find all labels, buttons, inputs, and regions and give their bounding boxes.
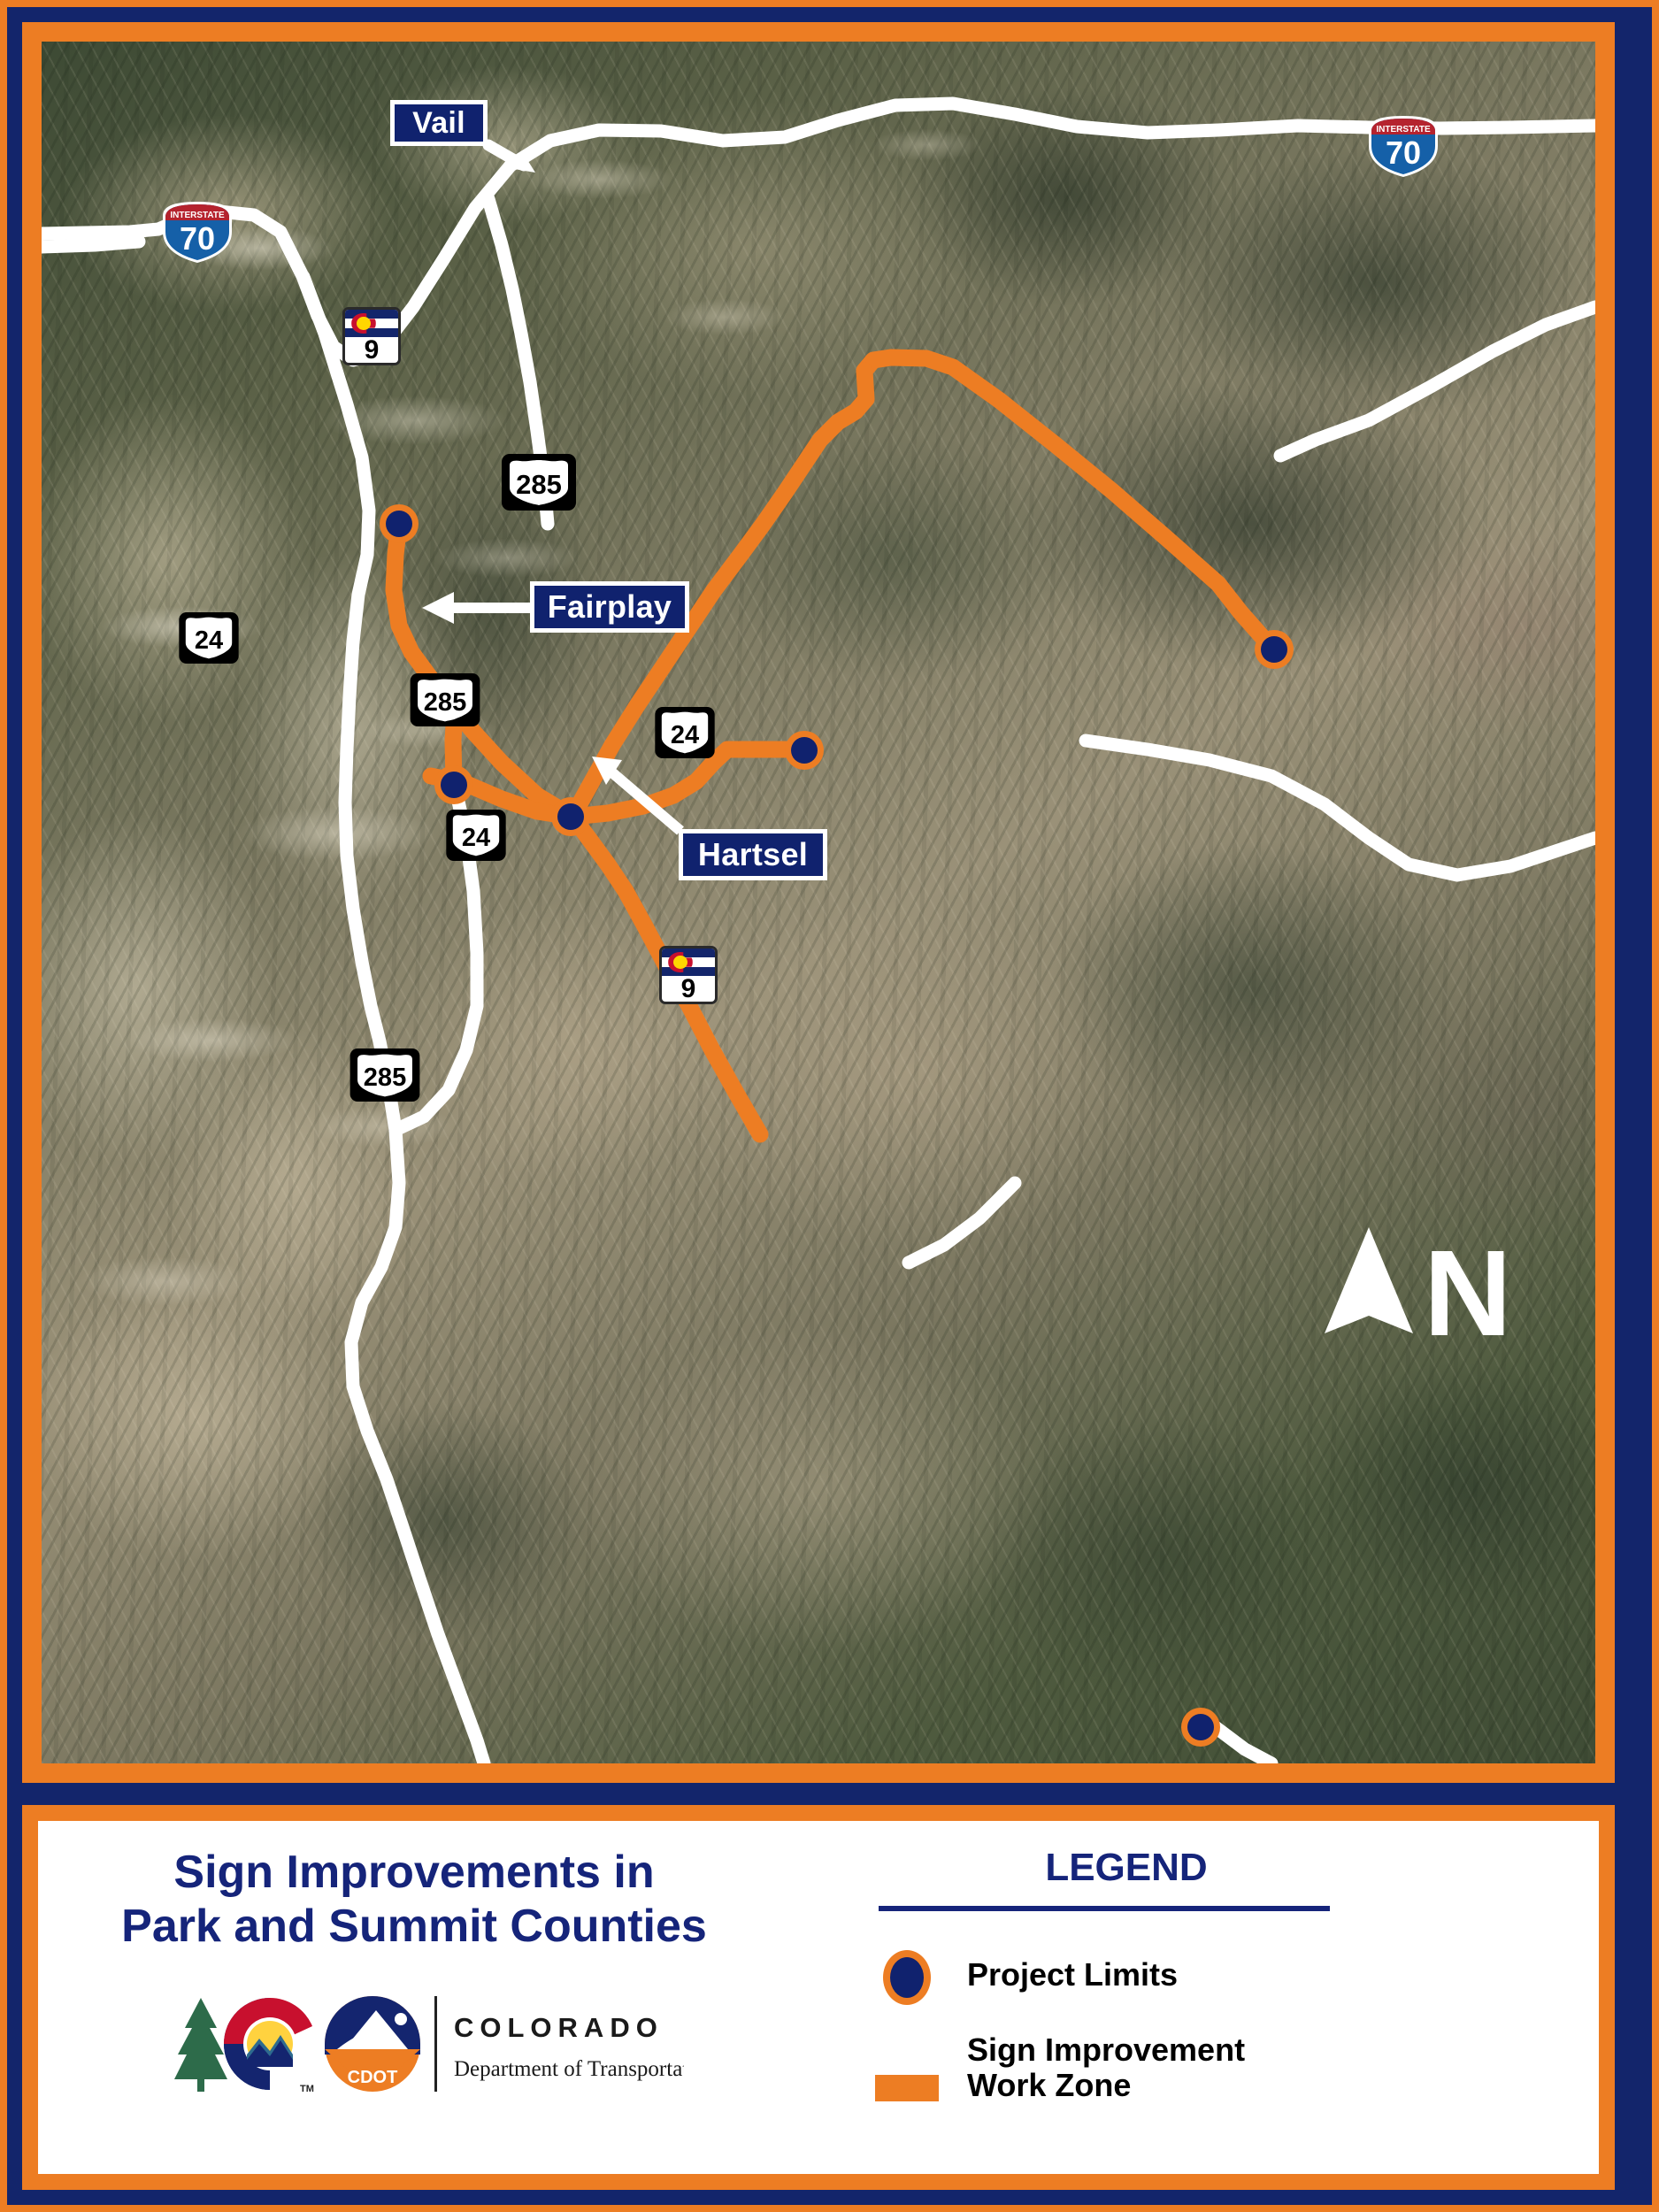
colorado-flag-icon (662, 949, 715, 976)
shield-number: 285 (424, 688, 466, 717)
interstate-banner: INTERSTATE (1376, 125, 1431, 134)
shield-us-24-east[interactable]: 24 (655, 707, 715, 763)
poster-root: N Vail Fairplay Hartsel INTERSTATE (0, 0, 1659, 2212)
shield-number: 70 (180, 220, 215, 257)
workzone-us285-ne (864, 357, 1267, 642)
project-limit-dot (1181, 1708, 1220, 1747)
legend-item-project-limits: Project Limits (834, 1947, 1542, 2008)
road-us24-east (1086, 741, 1595, 875)
shield-number: 9 (662, 976, 715, 1002)
project-limit-dot (551, 797, 590, 836)
interstate-banner: INTERSTATE (170, 211, 225, 220)
shield-number: 9 (345, 337, 398, 363)
legend-label-line-1: Sign Improvement (967, 2032, 1245, 2068)
project-limit-dot (434, 765, 473, 804)
legend-label: Sign Improvement Work Zone (967, 2032, 1245, 2104)
legend: LEGEND Project Limits Sign Improvement W… (834, 1840, 1542, 2159)
pine-tree-icon (174, 1998, 227, 2092)
info-panel: Sign Improvements in Park and Summit Cou… (38, 1821, 1599, 2174)
legend-item-work-zone: Sign Improvement Work Zone (834, 2031, 1542, 2128)
map-vector-layer: N (42, 42, 1595, 1763)
legend-heading: LEGEND (941, 1846, 1312, 1890)
highway-network (42, 104, 1595, 1763)
agency-name: COLORADO (454, 2012, 664, 2043)
north-arrow: N (1325, 1225, 1512, 1362)
legend-divider (879, 1906, 1330, 1911)
shield-number: 24 (195, 626, 223, 655)
road-us285-south (351, 1130, 484, 1763)
project-limit-markers[interactable] (380, 504, 1294, 1747)
shield-us-24-mid[interactable]: 24 (446, 810, 506, 865)
shield-number: 24 (671, 721, 699, 749)
shield-number: 285 (364, 1064, 406, 1092)
road-west-spur (42, 242, 139, 247)
city-label-hartsel[interactable]: Hartsel (679, 829, 827, 880)
work-zone-bar-icon (875, 2075, 939, 2101)
map-viewport[interactable]: N Vail Fairplay Hartsel INTERSTATE (42, 42, 1595, 1763)
shield-number: 70 (1386, 134, 1421, 171)
shield-us-285-mid[interactable]: 285 (410, 673, 480, 731)
legend-label-line-2: Work Zone (967, 2068, 1245, 2103)
project-limit-dot-icon (877, 1947, 937, 2008)
colorado-c-icon: TM (224, 1998, 314, 2094)
info-panel-frame: Sign Improvements in Park and Summit Cou… (22, 1805, 1615, 2190)
cdot-badge-icon: CDOT (325, 1996, 420, 2092)
shield-us-285-north[interactable]: 285 (502, 454, 576, 515)
road-us24-north (303, 277, 396, 1130)
shield-us-24-west[interactable]: 24 (179, 612, 239, 668)
shield-interstate-70-west[interactable]: INTERSTATE 70 (159, 198, 235, 270)
shield-number: 24 (462, 824, 490, 852)
cdot-wordmark: CDOT (348, 2068, 398, 2087)
legend-label: Project Limits (967, 1957, 1178, 1993)
shield-number: 285 (516, 469, 562, 500)
colorado-flag-icon (345, 310, 398, 337)
map-orange-frame: N Vail Fairplay Hartsel INTERSTATE (22, 22, 1615, 1783)
page-title: Sign Improvements in Park and Summit Cou… (91, 1846, 737, 1955)
project-limit-dot (785, 731, 824, 770)
project-limit-dot (380, 504, 419, 543)
city-label-vail[interactable]: Vail (390, 100, 488, 146)
city-label-text: Vail (412, 106, 465, 141)
title-line-2: Park and Summit Counties (91, 1900, 737, 1954)
north-arrow-letter: N (1424, 1225, 1512, 1362)
city-label-text: Hartsel (698, 836, 808, 873)
road-northeast (1280, 307, 1595, 456)
city-label-text: Fairplay (548, 588, 672, 626)
shield-colorado-9-south[interactable]: 9 (659, 946, 718, 1004)
road-hartsel-connector (909, 1183, 1015, 1263)
city-label-fairplay[interactable]: Fairplay (530, 581, 689, 633)
cdot-logo: TM CDOT COLORADO Department of Transport… (171, 1991, 684, 2097)
shield-us-285-south[interactable]: 285 (349, 1048, 420, 1106)
road-i70 (42, 104, 1595, 360)
trademark-mark: TM (300, 2084, 314, 2094)
agency-subtitle: Department of Transportation (454, 2057, 684, 2081)
shield-interstate-70-east[interactable]: INTERSTATE 70 (1365, 112, 1441, 184)
title-line-1: Sign Improvements in (91, 1846, 737, 1900)
workzone-us285-nw (394, 524, 572, 817)
shield-colorado-9-north[interactable]: 9 (342, 307, 401, 365)
logo-divider (434, 1996, 437, 2092)
project-limit-dot (1255, 630, 1294, 669)
